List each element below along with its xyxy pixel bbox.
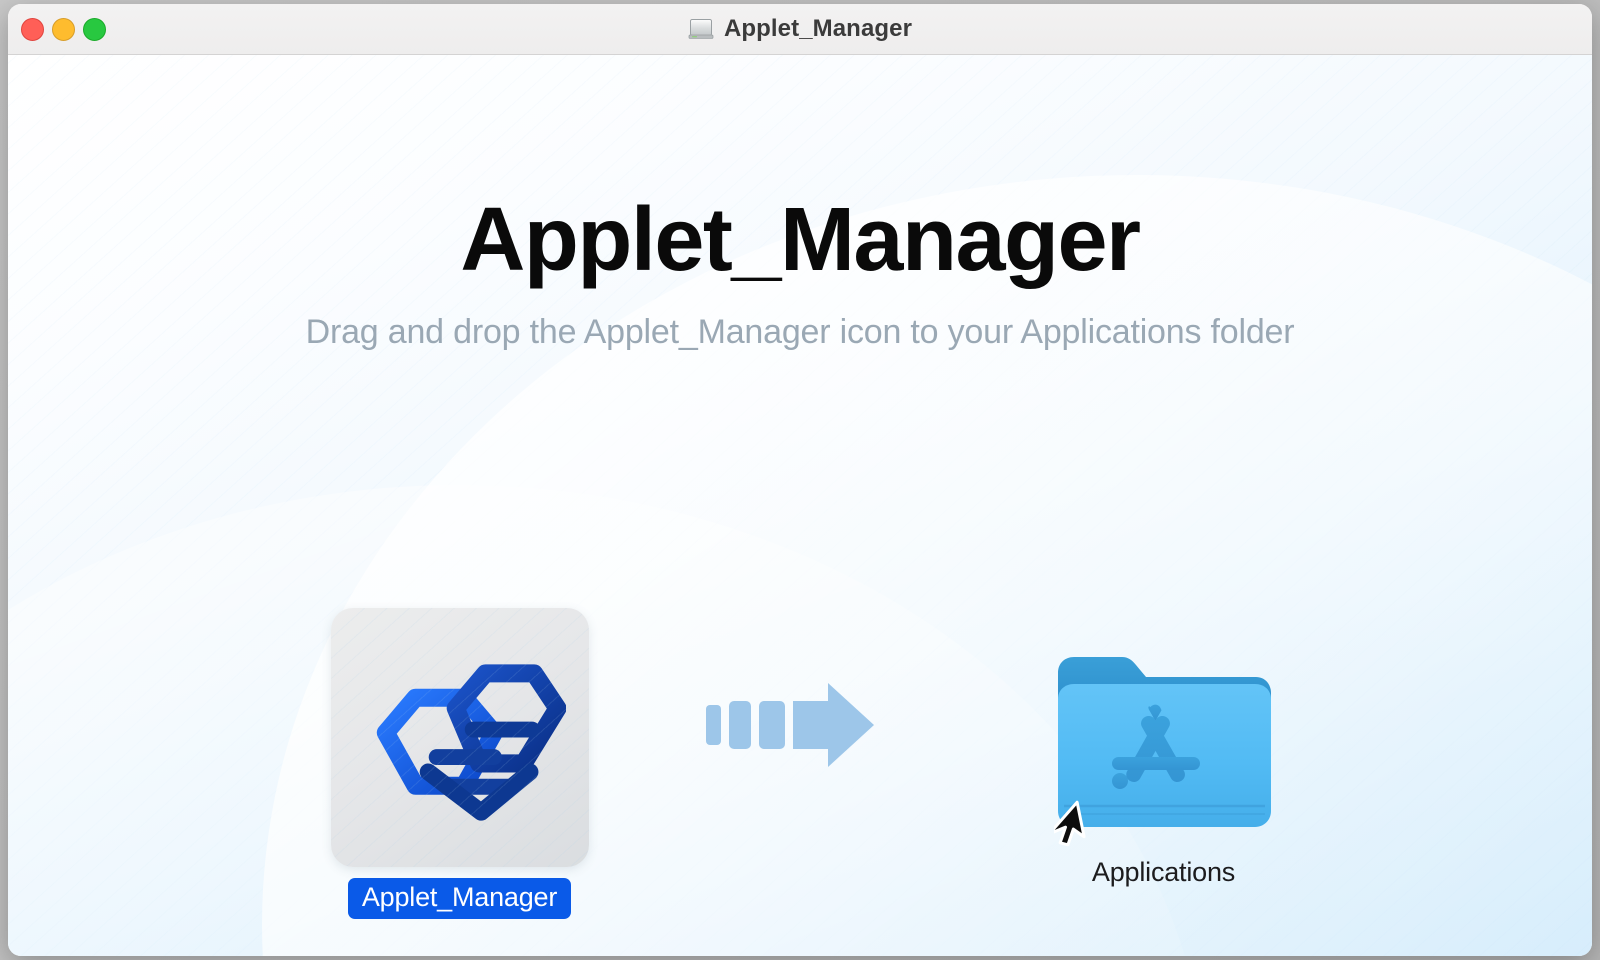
app-icon-label[interactable]: Applet_Manager <box>348 878 571 919</box>
page-title: Applet_Manager <box>8 193 1592 288</box>
close-button[interactable] <box>21 18 44 41</box>
disk-drive-icon <box>688 18 714 40</box>
applet-manager-app-icon[interactable] <box>331 608 589 867</box>
applications-folder-slot[interactable]: Applications <box>1026 550 1301 888</box>
window-titlebar: Applet_Manager <box>8 4 1592 55</box>
mouse-pointer-arrow-cursor <box>1054 799 1098 853</box>
drag-arrow-right-icon <box>702 680 882 770</box>
minimize-button[interactable] <box>52 18 75 41</box>
traffic-light-controls <box>21 4 106 54</box>
dmg-installer-window: Applet_Manager Applet_Manager Drag and d… <box>8 4 1592 956</box>
chain-link-logo-icon <box>354 632 566 844</box>
app-icon-slot[interactable]: Applet_Manager <box>322 550 597 919</box>
drag-direction-indicator <box>702 680 882 770</box>
applications-folder-icon[interactable] <box>1050 643 1278 841</box>
window-title: Applet_Manager <box>724 15 912 43</box>
window-title-group: Applet_Manager <box>688 15 912 43</box>
zoom-button[interactable] <box>83 18 106 41</box>
instruction-text: Drag and drop the Applet_Manager icon to… <box>8 313 1592 352</box>
drag-and-drop-row: Applet_Manager <box>8 550 1592 920</box>
dmg-content-area: Applet_Manager Drag and drop the Applet_… <box>8 55 1592 956</box>
applications-folder-label: Applications <box>1092 857 1235 888</box>
